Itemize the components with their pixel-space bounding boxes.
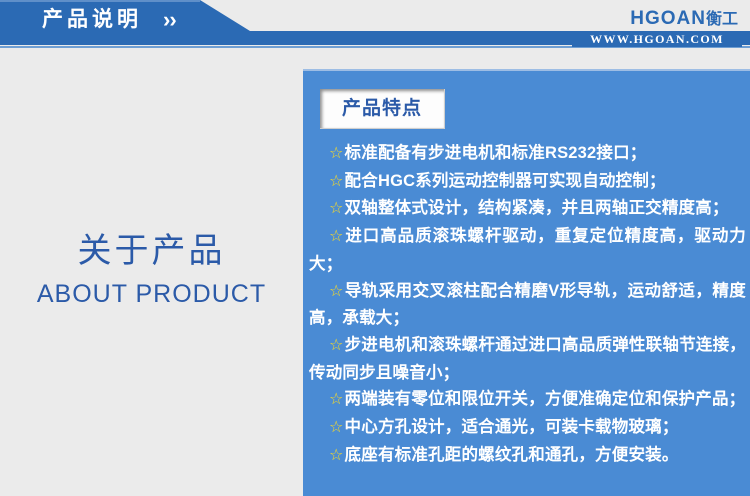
feature-item-label: 底座有标准孔距的螺纹孔和通孔，方便安装。 <box>345 446 679 464</box>
brand-logo: HGOAN衡工 WWW.HGOAN.COM <box>572 8 742 47</box>
star-bullet-icon: ☆ <box>329 145 344 162</box>
feature-item-label: 双轴整体式设计，结构紧凑，并且两轴正交精度高； <box>345 199 729 217</box>
feature-item-label: 中心方孔设计，适合通光，可装卡载物玻璃； <box>345 418 679 436</box>
feature-item: ☆标准配备有步进电机和标准RS232接口； <box>309 140 746 168</box>
star-bullet-icon: ☆ <box>329 228 344 245</box>
star-bullet-icon: ☆ <box>329 419 344 436</box>
feature-item: ☆中心方孔设计，适合通光，可装卡载物玻璃； <box>309 414 746 442</box>
logo-brand-en: HGOAN <box>630 8 706 29</box>
panel-title-box: 产品特点 <box>320 89 445 129</box>
panel-title: 产品特点 <box>320 89 444 128</box>
star-bullet-icon: ☆ <box>329 391 344 408</box>
feature-item: ☆步进电机和滚珠螺杆通过进口高品质弹性联轴节连接，传动同步且噪音小； <box>309 332 746 386</box>
feature-item: ☆导轨采用交叉滚柱配合精磨V形导轨，运动舒适，精度高，承载大； <box>309 278 746 332</box>
page-title: 产品说明 <box>42 6 142 34</box>
feature-list: ☆标准配备有步进电机和标准RS232接口；☆配合HGC系列运动控制器可实现自动控… <box>303 140 750 469</box>
logo-website-url: WWW.HGOAN.COM <box>572 32 742 47</box>
page-header: 产品说明 ›› HGOAN衡工 WWW.HGOAN.COM <box>0 0 750 52</box>
feature-item-label: 导轨采用交叉滚柱配合精磨V形导轨，运动舒适，精度高，承载大； <box>309 282 746 328</box>
star-bullet-icon: ☆ <box>329 447 344 464</box>
feature-item: ☆配合HGC系列运动控制器可实现自动控制； <box>309 168 746 196</box>
feature-item-label: 步进电机和滚珠螺杆通过进口高品质弹性联轴节连接，传动同步且噪音小； <box>309 336 746 382</box>
double-chevron-right-icon: ›› <box>163 6 176 34</box>
feature-item: ☆底座有标准孔距的螺纹孔和通孔，方便安装。 <box>309 442 746 470</box>
header-top-accent-line <box>0 0 200 2</box>
feature-item: ☆双轴整体式设计，结构紧凑，并且两轴正交精度高； <box>309 195 746 223</box>
about-title-en: ABOUT PRODUCT <box>0 278 303 310</box>
star-bullet-icon: ☆ <box>329 283 344 300</box>
logo-brand-cn: 衡工 <box>706 11 738 28</box>
star-bullet-icon: ☆ <box>329 337 344 354</box>
about-product-block: 关于产品 ABOUT PRODUCT <box>0 228 303 310</box>
feature-item-label: 标准配备有步进电机和标准RS232接口； <box>345 144 647 162</box>
feature-item: ☆进口高品质滚珠螺杆驱动，重复定位精度高，驱动力大； <box>309 223 746 277</box>
logo-wordmark: HGOAN衡工 <box>572 8 742 31</box>
feature-item-label: 两端装有零位和限位开关，方便准确定位和保护产品； <box>345 390 746 408</box>
about-title-cn: 关于产品 <box>0 228 303 274</box>
feature-item: ☆两端装有零位和限位开关，方便准确定位和保护产品； <box>309 386 746 414</box>
feature-item-label: 配合HGC系列运动控制器可实现自动控制； <box>345 172 666 190</box>
feature-item-label: 进口高品质滚珠螺杆驱动，重复定位精度高，驱动力大； <box>309 227 746 273</box>
star-bullet-icon: ☆ <box>329 200 344 217</box>
star-bullet-icon: ☆ <box>329 173 344 190</box>
product-features-panel: 产品特点 ☆标准配备有步进电机和标准RS232接口；☆配合HGC系列运动控制器可… <box>303 71 750 496</box>
